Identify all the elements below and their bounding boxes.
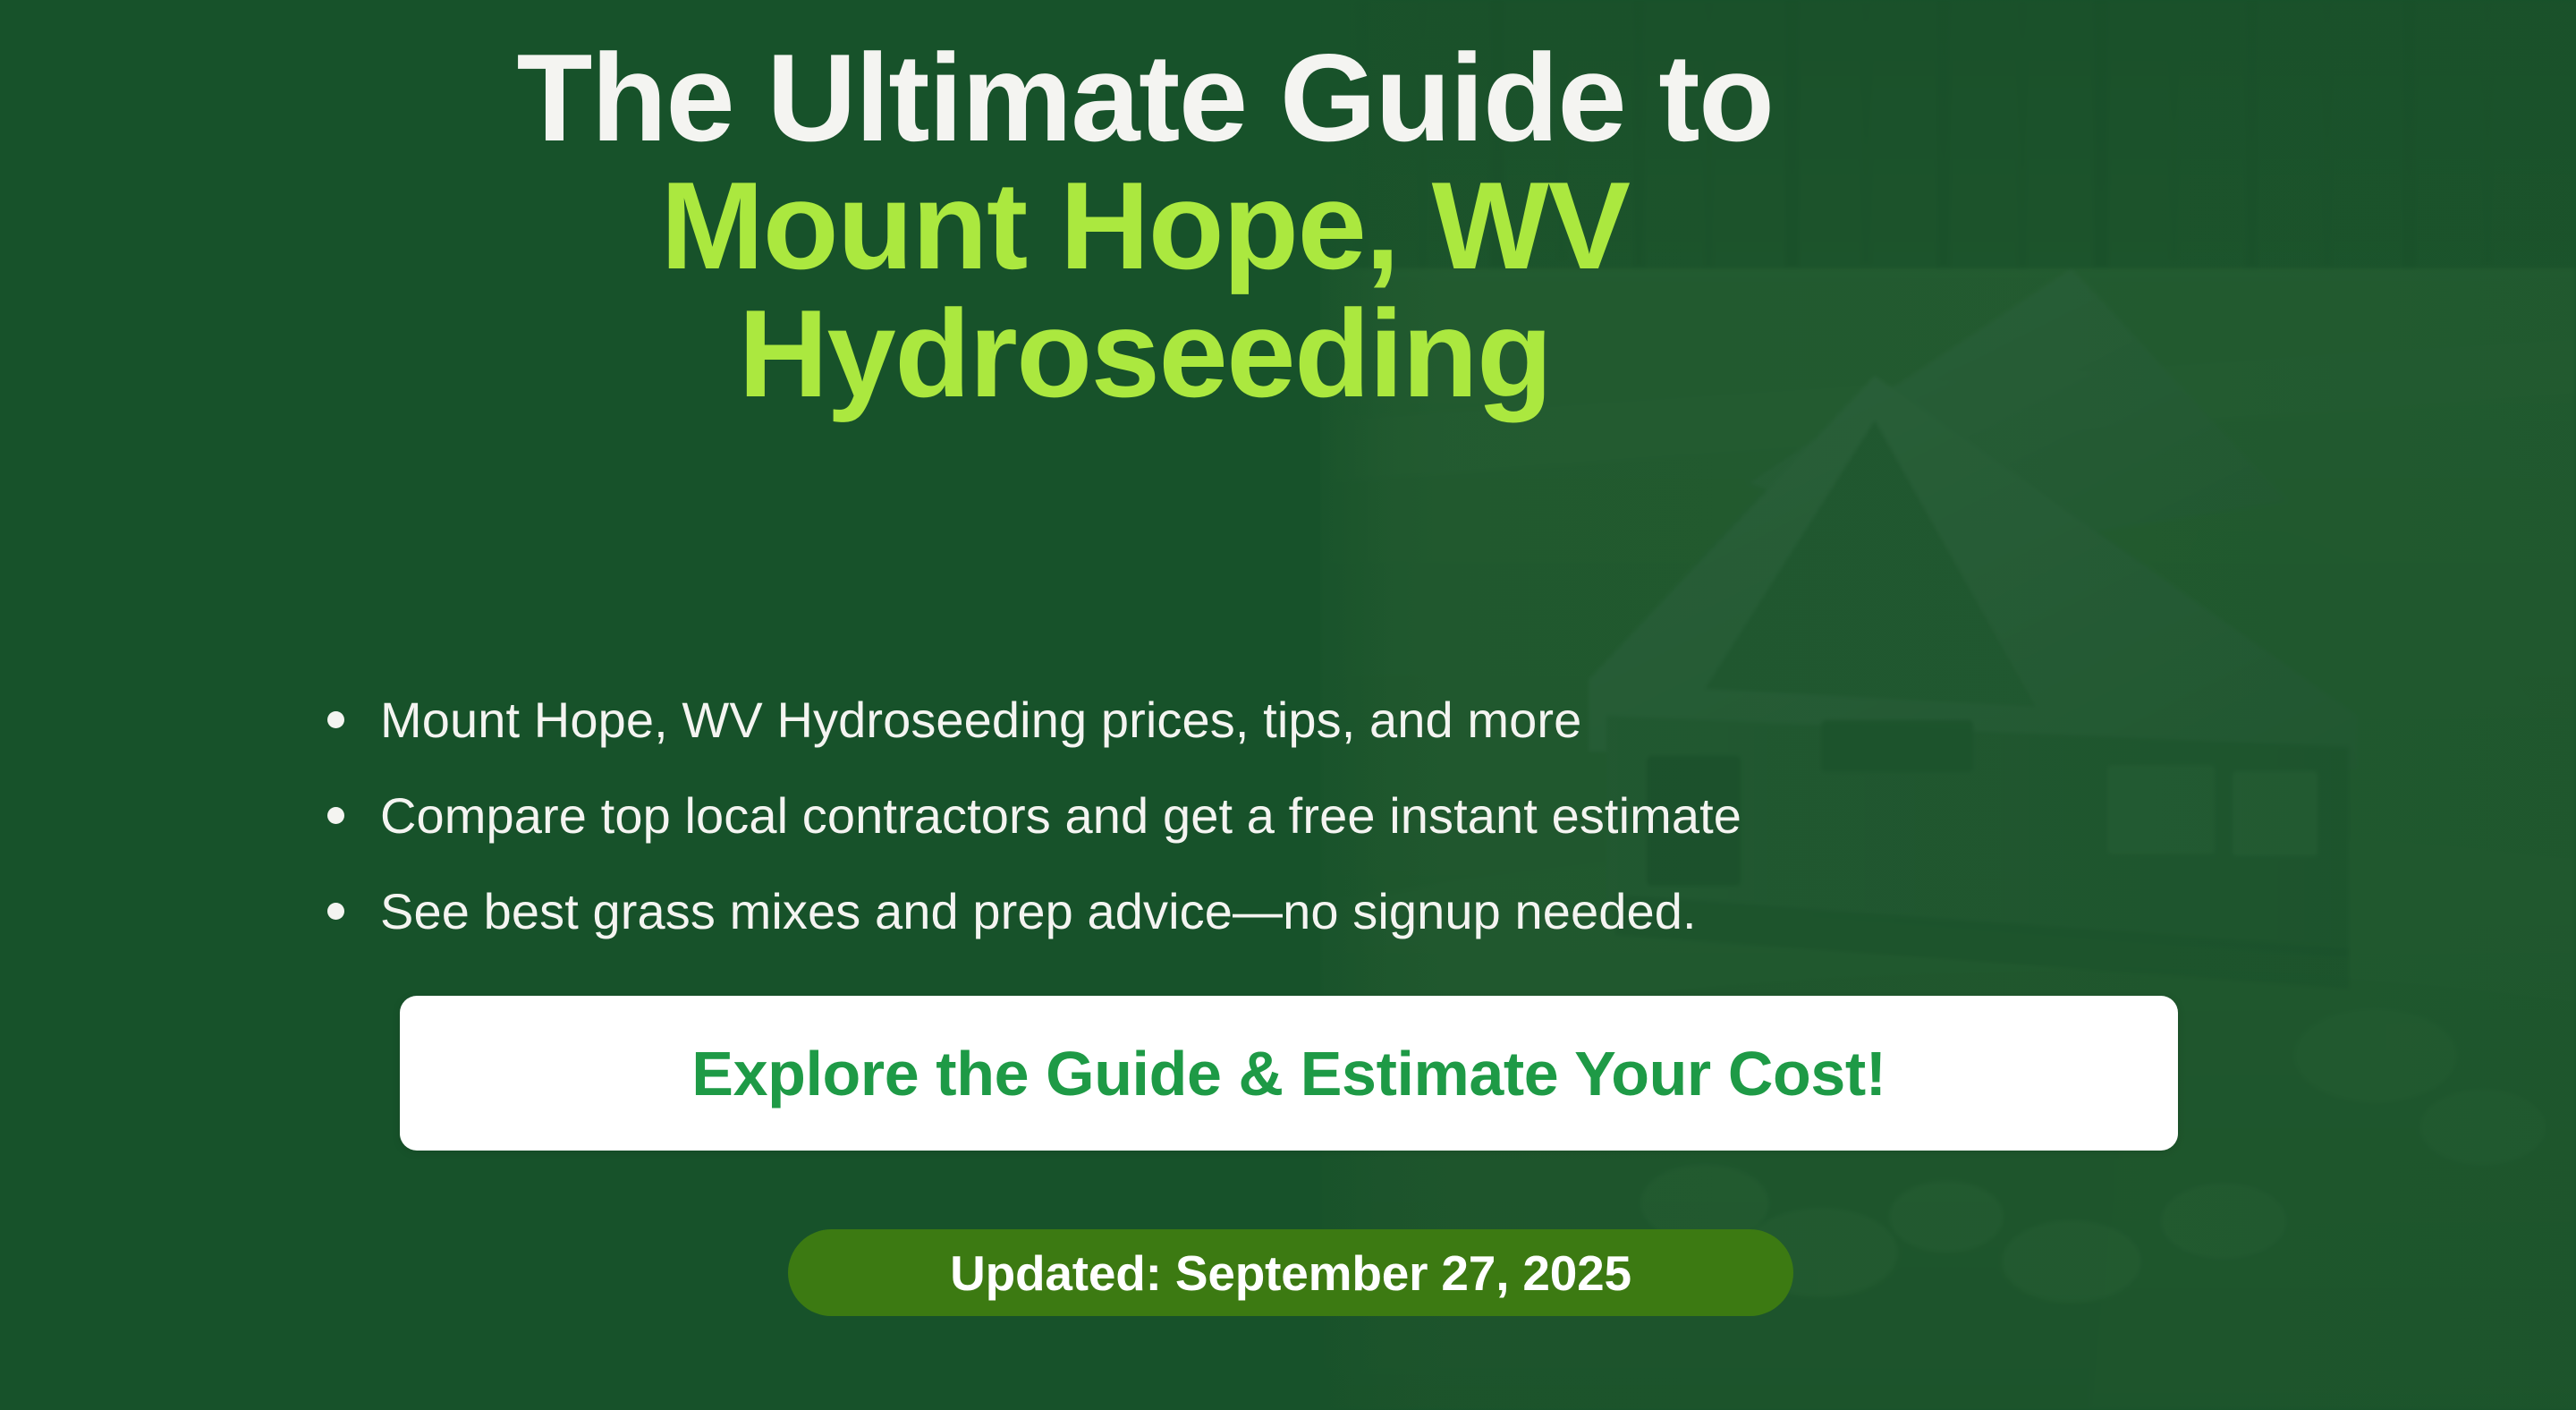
list-item: Compare top local contractors and get a … [320,768,2333,863]
list-item-label: Compare top local contractors and get a … [380,787,1741,844]
banner-content: The Ultimate Guide to Mount Hope, WV Hyd… [0,0,2576,1410]
bullet-dot-icon [327,711,344,728]
headline-line-1: The Ultimate Guide to [0,34,2290,162]
last-updated-label: Updated: September 27, 2025 [950,1244,1631,1302]
list-item-label: See best grass mixes and prep advice—no … [380,883,1697,939]
list-item: See best grass mixes and prep advice—no … [320,863,2333,959]
cta-button-label: Explore the Guide & Estimate Your Cost! [691,1038,1885,1109]
last-updated-badge: Updated: September 27, 2025 [788,1229,1793,1316]
bullet-dot-icon [327,903,344,920]
benefits-list: Mount Hope, WV Hydroseeding prices, tips… [320,672,2333,959]
bullet-dot-icon [327,807,344,824]
explore-guide-cta-button[interactable]: Explore the Guide & Estimate Your Cost! [400,996,2178,1151]
list-item-label: Mount Hope, WV Hydroseeding prices, tips… [380,692,1581,748]
headline-line-3: Hydroseeding [0,290,2290,418]
list-item: Mount Hope, WV Hydroseeding prices, tips… [320,672,2333,768]
headline-line-2: Mount Hope, WV [0,162,2290,290]
hero-banner: The Ultimate Guide to Mount Hope, WV Hyd… [0,0,2576,1410]
page-title: The Ultimate Guide to Mount Hope, WV Hyd… [0,34,2290,418]
